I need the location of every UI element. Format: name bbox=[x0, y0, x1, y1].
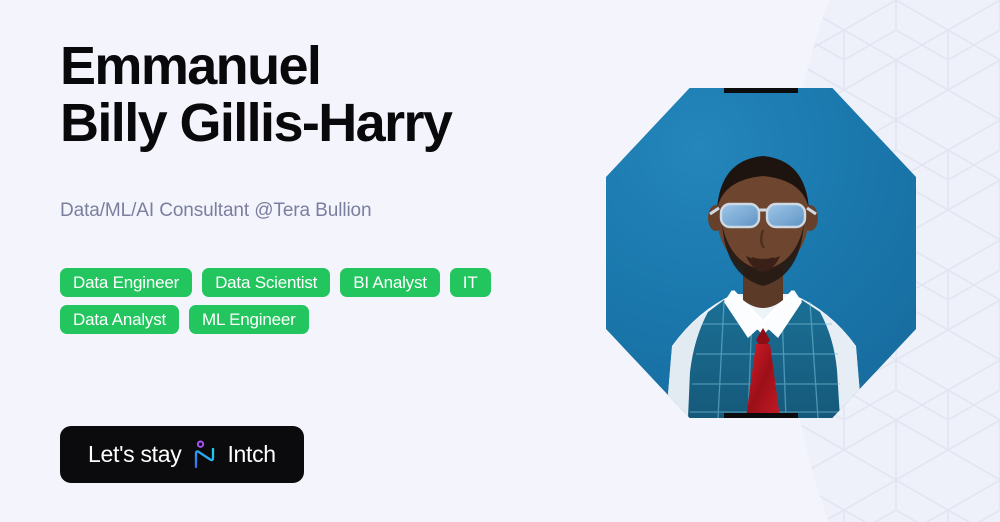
skill-tag[interactable]: ML Engineer bbox=[189, 305, 309, 334]
intch-n-logo-icon bbox=[191, 440, 217, 470]
avatar-edge-bottom bbox=[724, 413, 798, 418]
avatar-hexagon-clip bbox=[606, 88, 916, 418]
skill-tag-list: Data Engineer Data Scientist BI Analyst … bbox=[60, 268, 580, 334]
profile-card: Emmanuel Billy Gillis-Harry Data/ML/AI C… bbox=[0, 0, 1000, 522]
skill-tag[interactable]: Data Analyst bbox=[60, 305, 179, 334]
profile-subtitle: Data/ML/AI Consultant @Tera Bullion bbox=[60, 198, 372, 224]
avatar-person-illustration bbox=[606, 88, 916, 418]
cta-label: Let's stay bbox=[88, 441, 181, 468]
cta-brand-label: Intch bbox=[227, 441, 275, 468]
page-title: Emmanuel Billy Gillis-Harry bbox=[60, 38, 451, 152]
avatar bbox=[606, 88, 916, 418]
avatar-edge-top bbox=[724, 88, 798, 93]
skill-tag[interactable]: Data Scientist bbox=[202, 268, 330, 297]
skill-tag[interactable]: IT bbox=[450, 268, 491, 297]
skill-tag[interactable]: BI Analyst bbox=[340, 268, 440, 297]
profile-content: Emmanuel Billy Gillis-Harry Data/ML/AI C… bbox=[60, 0, 620, 522]
lets-stay-intch-button[interactable]: Let's stay Intch bbox=[60, 426, 304, 483]
skill-tag[interactable]: Data Engineer bbox=[60, 268, 192, 297]
